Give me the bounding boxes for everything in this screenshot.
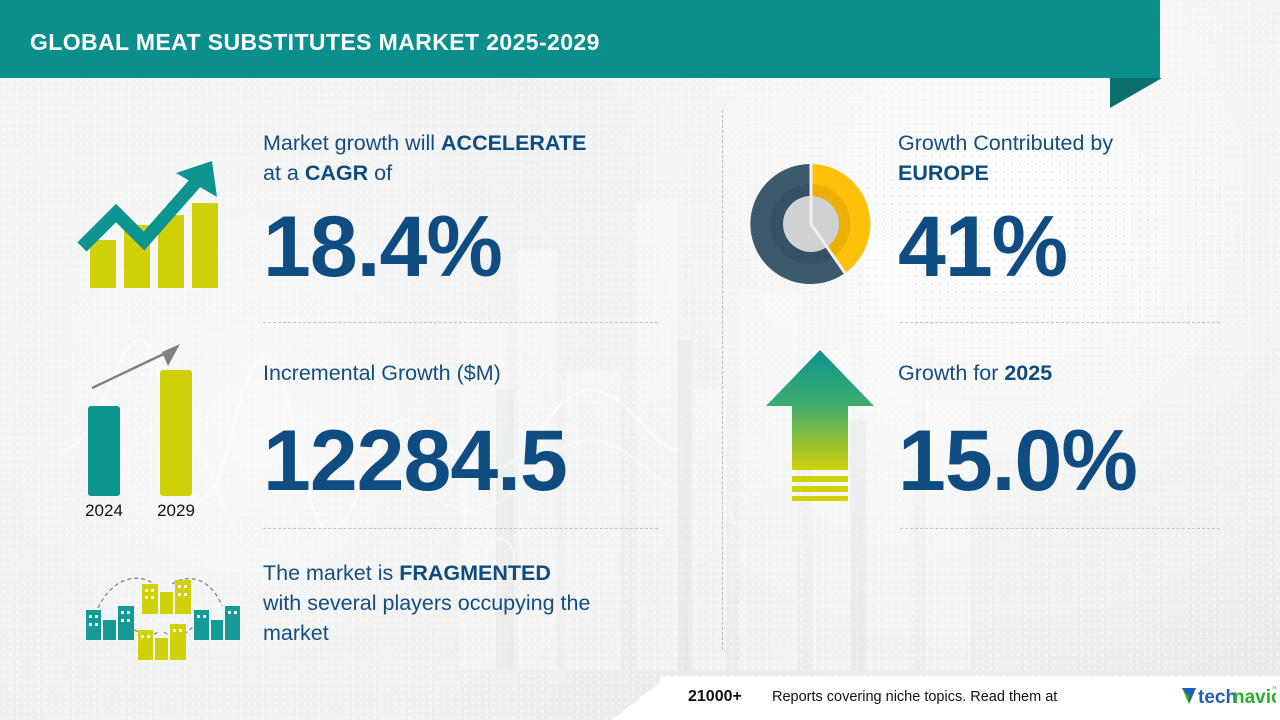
logo-trademark: ™ [1271,685,1276,694]
logo-text-tech: tech [1198,687,1237,708]
cagr-line2-pre: at a [263,161,305,185]
frag-line1-pre: The market is [263,561,399,585]
divider-right-1 [900,322,1220,323]
cagr-line2-post: of [368,161,392,185]
cagr-line1-strong: ACCELERATE [441,131,586,155]
donut-chart-icon [745,158,877,290]
page-title: GLOBAL MEAT SUBSTITUTES MARKET 2025-2029 [30,29,600,56]
incremental-growth-value: 12284.5 [263,418,567,504]
column-divider [722,110,723,650]
cagr-line1-pre: Market growth will [263,131,441,155]
europe-line2-strong: EUROPE [898,161,989,185]
footer-tagline: Reports covering niche topics. Read them… [772,689,1057,705]
europe-line1: Growth Contributed by [898,131,1113,155]
triangle-play-icon [1182,688,1196,704]
bar-label-2029: 2029 [157,501,195,520]
arrow-up-icon [762,348,878,508]
frag-line2: with several players occupying the [263,591,590,615]
yearly-growth-value: 15.0% [898,418,1137,504]
cagr-headline: Market growth will ACCELERATE at a CAGR … [263,128,663,188]
growth-label-strong: 2025 [1004,361,1052,385]
divider-left-2 [263,528,658,529]
europe-headline: Growth Contributed by EUROPE [898,128,1208,188]
incremental-growth-label: Incremental Growth ($M) [263,358,663,388]
technavio-logo[interactable]: tech navio ™ [1180,682,1276,712]
logo-text-navio: navio [1233,687,1276,708]
frag-line1-strong: FRAGMENTED [399,561,551,585]
fragmentation-headline: The market is FRAGMENTED with several pl… [263,558,683,648]
bar-label-2024: 2024 [85,501,123,520]
footer-report-count: 21000+ [688,688,742,706]
yearly-growth-label: Growth for 2025 [898,358,1208,388]
cagr-line2-strong: CAGR [305,161,368,185]
header-fold-corner [1110,78,1162,108]
divider-left-1 [263,322,658,323]
cagr-value: 18.4% [263,204,502,290]
divider-right-2 [900,528,1220,529]
network-buildings-icon [72,562,242,667]
growth-chart-icon [72,145,232,295]
growth-label-pre: Growth for [898,361,1004,385]
frag-line3: market [263,621,329,645]
europe-value: 41% [898,204,1067,290]
footer-bar: 21000+ Reports covering niche topics. Re… [660,676,1280,720]
bar-compare-icon: 2024 2029 [68,332,228,522]
